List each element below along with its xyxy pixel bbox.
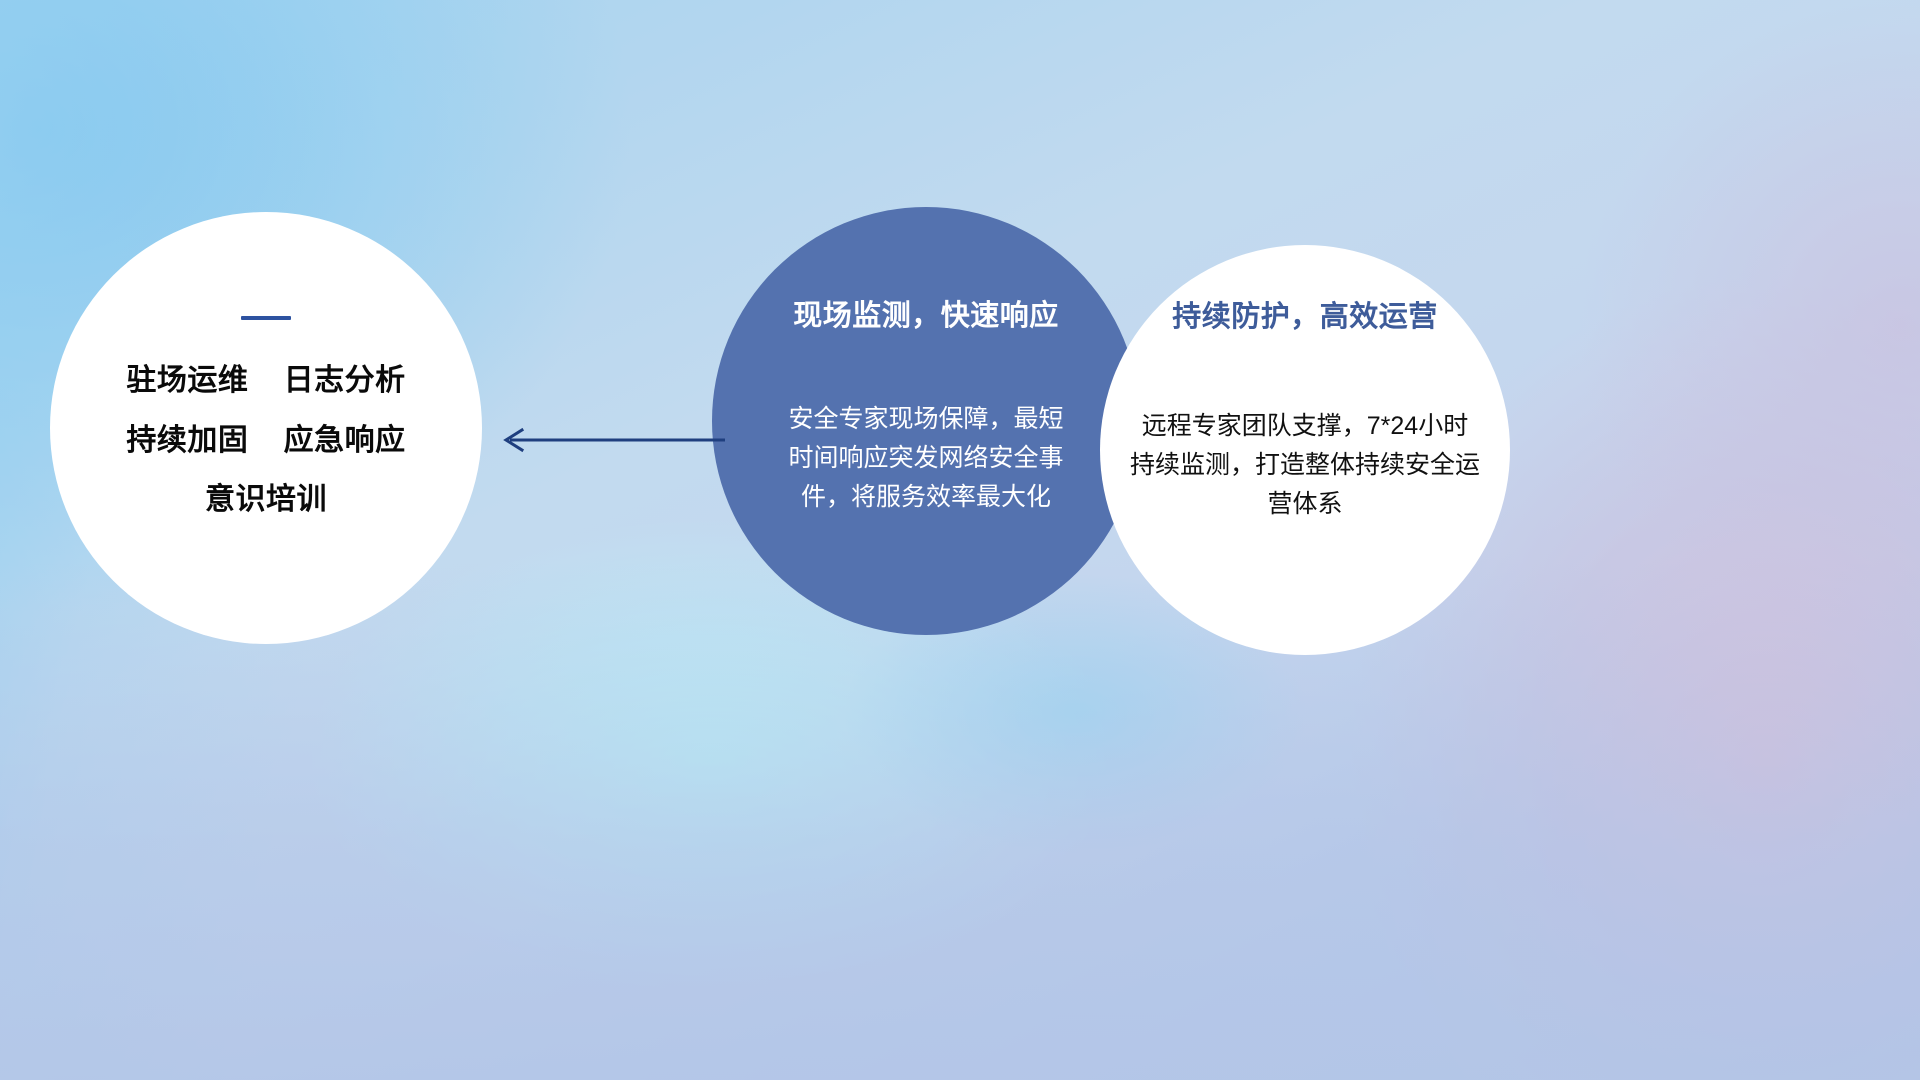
slide-canvas: 驻场运维 日志分析 持续加固 应急响应 意识培训 现场监测，快速响应 安全专家现… [0, 0, 1920, 1080]
capability-line-3: 意识培训 [205, 484, 327, 516]
continuous-protection-body: 远程专家团队支撑，7*24小时持续监测，打造整体持续安全运营体系 [1130, 407, 1480, 523]
capability-circle: 驻场运维 日志分析 持续加固 应急响应 意识培训 [50, 212, 482, 644]
onsite-monitoring-heading: 现场监测，快速响应 [793, 292, 1059, 334]
onsite-monitoring-circle: 现场监测，快速响应 安全专家现场保障，最短时间响应突发网络安全事件，将服务效率最… [712, 207, 1140, 635]
capability-line-1: 驻场运维 日志分析 [126, 365, 405, 397]
leftward-arrow-icon [470, 410, 730, 470]
continuous-protection-heading: 持续防护，高效运营 [1172, 293, 1438, 335]
continuous-protection-circle: 持续防护，高效运营 远程专家团队支撑，7*24小时持续监测，打造整体持续安全运营… [1100, 245, 1510, 655]
divider-rule [241, 316, 291, 320]
onsite-monitoring-body: 安全专家现场保障，最短时间响应突发网络安全事件，将服务效率最大化 [781, 400, 1071, 516]
capability-line-2: 持续加固 应急响应 [126, 425, 405, 457]
